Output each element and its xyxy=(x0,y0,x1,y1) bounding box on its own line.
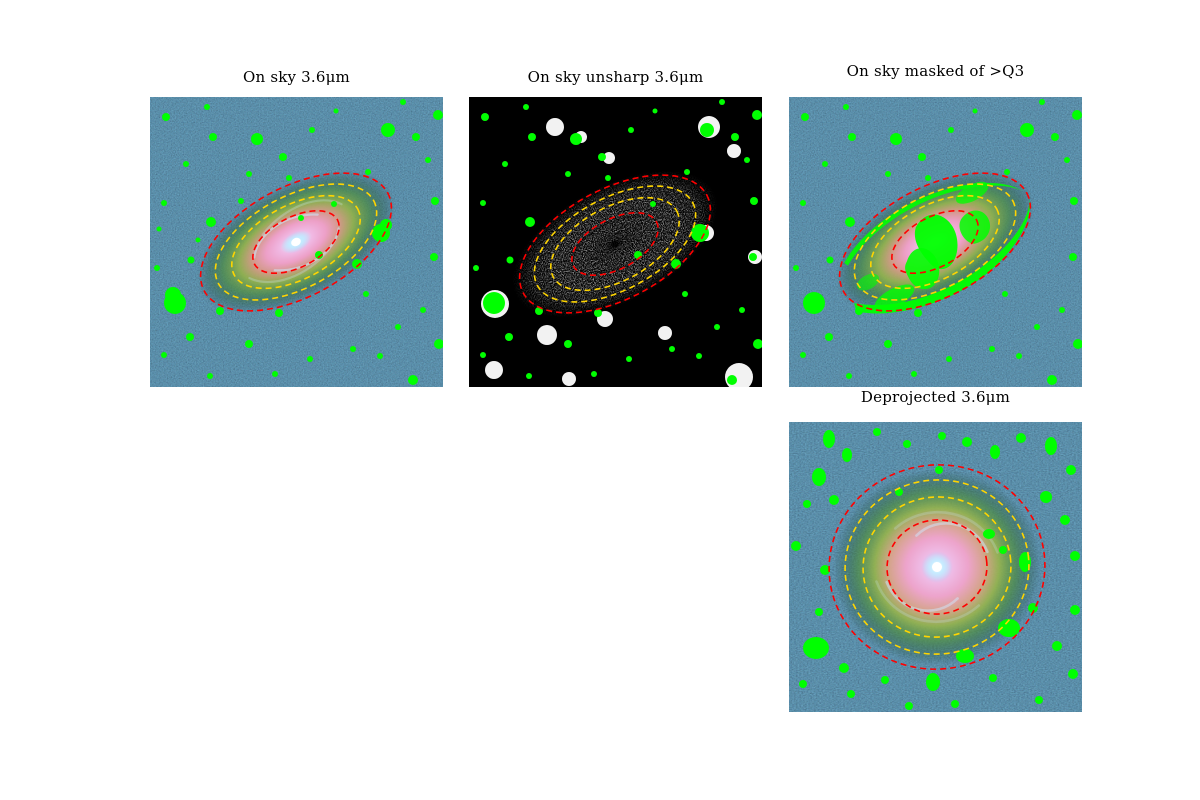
panel-title-on-sky-36um: On sky 3.6μm xyxy=(150,68,443,86)
image-on-sky-masked-q3 xyxy=(789,97,1082,387)
panel-title-on-sky-masked-q3: On sky masked of >Q3 xyxy=(789,62,1082,80)
image-on-sky-unsharp-36um xyxy=(469,97,762,387)
panel-title-deprojected-36um: Deprojected 3.6μm xyxy=(789,388,1082,406)
image-deprojected-36um xyxy=(789,422,1082,712)
panel-title-on-sky-unsharp-36um: On sky unsharp 3.6μm xyxy=(469,68,762,86)
image-on-sky-36um xyxy=(150,97,443,387)
figure-canvas: On sky 3.6μm xyxy=(0,0,1200,800)
